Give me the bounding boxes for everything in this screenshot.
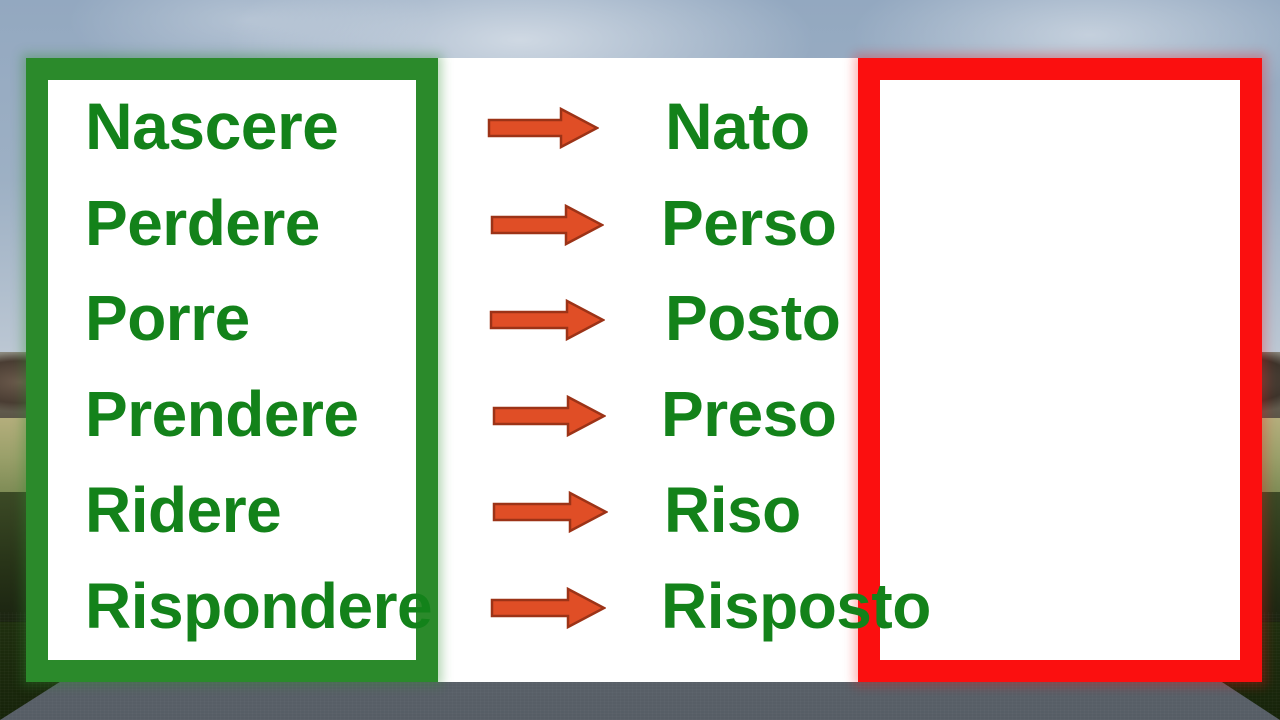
participle-text: Posto: [665, 286, 840, 350]
right-arrow-icon: [490, 203, 604, 247]
infinitive-text: Perdere: [85, 191, 320, 255]
verb-list: Nascere Nato Perdere Perso Porre: [0, 0, 1280, 720]
participle-text: Preso: [661, 382, 836, 446]
participle-text: Perso: [661, 191, 836, 255]
participle-text: Riso: [664, 478, 801, 542]
infinitive-text: Porre: [85, 286, 250, 350]
right-arrow-icon: [489, 298, 605, 342]
participle-text: Nato: [665, 93, 810, 159]
right-arrow-icon: [492, 394, 606, 438]
table-row: Nascere Nato: [0, 78, 1280, 174]
right-arrow-icon: [487, 106, 599, 150]
table-row: Porre Posto: [0, 270, 1280, 366]
infinitive-text: Prendere: [85, 382, 358, 446]
right-arrow-icon: [490, 586, 606, 630]
participle-text: Risposto: [661, 574, 931, 638]
table-row: Rispondere Risposto: [0, 558, 1280, 654]
table-row: Prendere Preso: [0, 366, 1280, 462]
infinitive-text: Nascere: [85, 93, 338, 159]
infinitive-text: Ridere: [85, 478, 281, 542]
right-arrow-icon: [492, 490, 608, 534]
table-row: Ridere Riso: [0, 462, 1280, 558]
slide-canvas: Nascere Nato Perdere Perso Porre: [0, 0, 1280, 720]
infinitive-text: Rispondere: [85, 574, 432, 638]
table-row: Perdere Perso: [0, 175, 1280, 271]
